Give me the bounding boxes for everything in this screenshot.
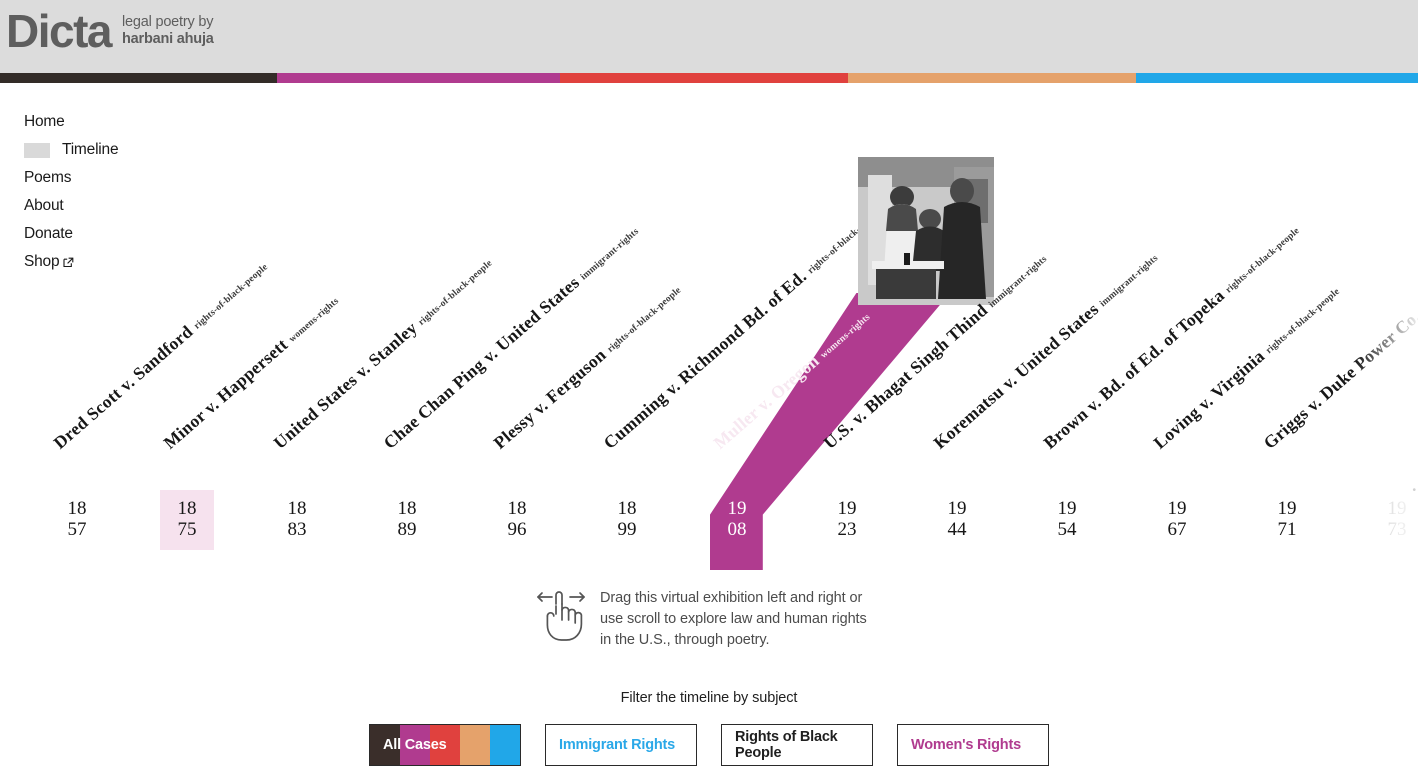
timeline-case[interactable]: Cumming v. Richmond Bd. of Ed.rights-of-…	[600, 150, 720, 570]
case-year-top: 18	[600, 498, 654, 519]
filter-title: Filter the timeline by subject	[0, 690, 1418, 706]
case-year-bottom: 83	[270, 519, 324, 540]
case-year-top: 19	[1260, 498, 1314, 519]
nav-item-home[interactable]: Home	[24, 108, 254, 136]
brand-subtitle-line2: harbani ahuja	[122, 31, 214, 48]
case-year-bottom: 71	[1260, 519, 1314, 540]
subject-color-bar	[0, 73, 1418, 83]
drag-hint-line1: Drag this virtual exhibition left and ri…	[600, 588, 867, 609]
case-year[interactable]: 1973	[1370, 490, 1418, 550]
case-year-top: 19	[710, 498, 764, 519]
filter-button-label: All Cases	[370, 737, 447, 753]
filter-button-label: Women's Rights	[898, 737, 1021, 753]
drag-hint: Drag this virtual exhibition left and ri…	[534, 588, 867, 650]
timeline-case[interactable]: Griggs v. Duke Power Co.rights-of-black-…	[1260, 150, 1380, 570]
color-bar-segment-other	[848, 73, 1136, 83]
timeline-edge-marker: •	[1412, 485, 1416, 496]
case-year[interactable]: 1883	[270, 490, 324, 550]
color-bar-segment-all-cases	[0, 73, 277, 83]
case-year-bottom: 75	[160, 519, 214, 540]
case-year[interactable]: 1889	[380, 490, 434, 550]
filter-section: Filter the timeline by subject All Cases…	[0, 690, 1418, 766]
case-year[interactable]: 1967	[1150, 490, 1204, 550]
filter-button-group: All CasesImmigrant RightsRights of Black…	[0, 724, 1418, 766]
case-year-top: 19	[930, 498, 984, 519]
filter-button-black[interactable]: Rights of Black People	[721, 724, 873, 766]
case-year-top: 19	[1040, 498, 1094, 519]
drag-hand-icon	[534, 588, 588, 644]
nav-item-label: Home	[24, 113, 65, 131]
timeline-case[interactable]: Dred Scott v. Sandfordrights-of-black-pe…	[50, 150, 170, 570]
case-year-top: 18	[50, 498, 104, 519]
case-year-bottom: 23	[820, 519, 874, 540]
color-bar-segment-womens-rights	[277, 73, 561, 83]
case-year[interactable]: 1899	[600, 490, 654, 550]
case-year[interactable]: 1908	[710, 490, 764, 550]
case-year[interactable]: 1857	[50, 490, 104, 550]
brand-subtitle: legal poetry by harbani ahuja	[122, 14, 214, 48]
filter-button-label: Immigrant Rights	[546, 737, 675, 753]
case-year-bottom: 44	[930, 519, 984, 540]
timeline-case[interactable]: Muller v. Oregonwomens-rights1908	[710, 150, 830, 570]
filter-stripe-3	[460, 725, 490, 765]
case-year-bottom: 89	[380, 519, 434, 540]
brand-title: Dicta	[6, 6, 111, 56]
case-name: Loving v. Virginia	[1150, 347, 1268, 452]
case-year-bottom: 08	[710, 519, 764, 540]
case-year-top: 18	[160, 498, 214, 519]
timeline-case[interactable]: Chae Chan Ping v. United Statesimmigrant…	[380, 150, 500, 570]
case-name: Plessy v. Ferguson	[490, 345, 609, 452]
timeline-case[interactable]: Plessy v. Fergusonrights-of-black-people…	[490, 150, 610, 570]
color-bar-segment-immigrant-rights	[1136, 73, 1418, 83]
case-year[interactable]: 1896	[490, 490, 544, 550]
case-year[interactable]: 1944	[930, 490, 984, 550]
filter-button-all[interactable]: All Cases	[369, 724, 521, 766]
case-year-bottom: 57	[50, 519, 104, 540]
timeline-case[interactable]: U.S. v. Bhagat Singh Thindimmigrant-righ…	[820, 150, 940, 570]
case-year-top: 19	[1150, 498, 1204, 519]
case-year[interactable]: 1954	[1040, 490, 1094, 550]
timeline-case[interactable]: Brown v. Bd. of Ed. of Topekarights-of-b…	[1040, 150, 1160, 570]
brand-logo[interactable]: Dicta legal poetry by harbani ahuja	[6, 6, 214, 56]
case-year-bottom: 67	[1150, 519, 1204, 540]
timeline-case[interactable]: 1973	[1370, 150, 1418, 570]
case-year-bottom: 96	[490, 519, 544, 540]
drag-hint-line2: use scroll to explore law and human righ…	[600, 609, 867, 630]
case-year-bottom: 99	[600, 519, 654, 540]
filter-button-women[interactable]: Women's Rights	[897, 724, 1049, 766]
case-year-top: 18	[490, 498, 544, 519]
case-year[interactable]: 1923	[820, 490, 874, 550]
timeline-case[interactable]: United States v. Stanleyrights-of-black-…	[270, 150, 390, 570]
site-header: Dicta legal poetry by harbani ahuja	[0, 0, 1418, 80]
timeline-case[interactable]: Minor v. Happersettwomens-rights1875	[160, 150, 280, 570]
drag-hint-text: Drag this virtual exhibition left and ri…	[600, 588, 867, 650]
filter-stripe-4	[490, 725, 520, 765]
case-year-top: 19	[1370, 498, 1418, 519]
case-year-top: 18	[270, 498, 324, 519]
case-year[interactable]: 1971	[1260, 490, 1314, 550]
case-year-bottom: 54	[1040, 519, 1094, 540]
case-year-top: 19	[820, 498, 874, 519]
brand-subtitle-line1: legal poetry by	[122, 14, 214, 31]
timeline-track[interactable]: Dred Scott v. Sandfordrights-of-black-pe…	[0, 150, 1418, 570]
timeline-case[interactable]: Korematsu v. United Statesimmigrant-righ…	[930, 150, 1050, 570]
drag-hint-line3: in the U.S., through poetry.	[600, 630, 867, 651]
case-year-top: 18	[380, 498, 434, 519]
filter-button-immigrant[interactable]: Immigrant Rights	[545, 724, 697, 766]
case-year-bottom: 73	[1370, 519, 1418, 540]
case-year[interactable]: 1875	[160, 490, 214, 550]
timeline-case[interactable]: Loving v. Virginiarights-of-black-people…	[1150, 150, 1270, 570]
color-bar-segment-rights-of-black-people	[560, 73, 848, 83]
filter-button-label: Rights of Black People	[722, 729, 872, 761]
